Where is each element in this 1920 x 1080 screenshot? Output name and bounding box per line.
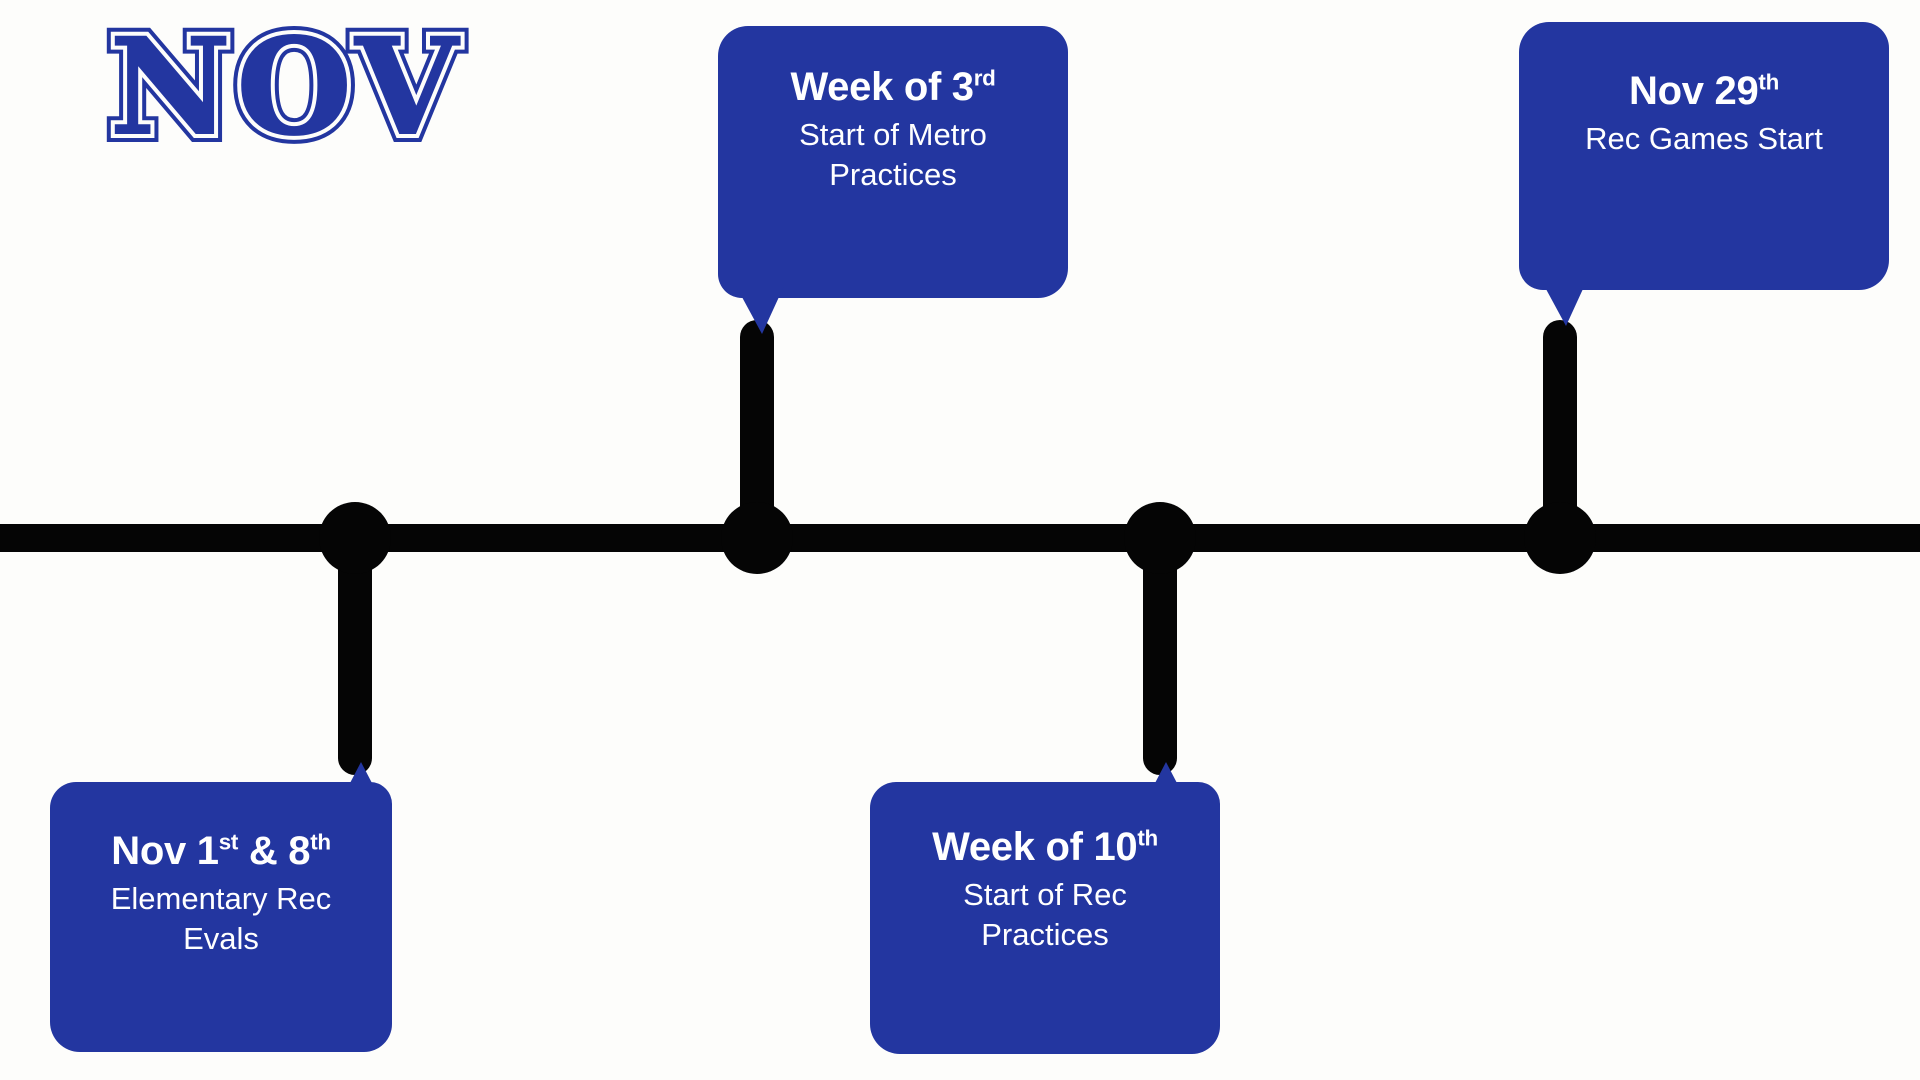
timeline-node-week-3[interactable]	[721, 502, 793, 574]
event-subtitle-nov-1-8: Elementary Rec Evals	[68, 879, 374, 960]
event-bubble-nov-1-8[interactable]: Nov 1st & 8th Elementary Rec Evals	[50, 782, 392, 1052]
event-title-nov-1-8: Nov 1st & 8th	[68, 830, 374, 873]
month-badge-fill: NOV	[110, 22, 464, 154]
event-bubble-nov-29[interactable]: Nov 29th Rec Games Start	[1519, 22, 1889, 290]
event-title-week-10: Week of 10th	[888, 826, 1202, 869]
event-subtitle-week-10: Start of Rec Practices	[888, 875, 1202, 956]
event-bubble-week-10[interactable]: Week of 10th Start of Rec Practices	[870, 782, 1220, 1054]
bubble-tail-week-3	[736, 286, 784, 334]
timeline-node-nov-29[interactable]	[1524, 502, 1596, 574]
timeline-infographic: NOV NOV NOV Week of 3rd Start of Metro P…	[0, 0, 1920, 1080]
timeline-node-nov-1-8[interactable]	[319, 502, 391, 574]
bubble-tail-nov-29	[1540, 278, 1588, 326]
event-title-week-3: Week of 3rd	[744, 66, 1042, 109]
event-subtitle-nov-29: Rec Games Start	[1545, 119, 1863, 159]
event-title-nov-29: Nov 29th	[1545, 70, 1863, 113]
timeline-node-week-10[interactable]	[1124, 502, 1196, 574]
timeline-axis	[0, 524, 1920, 552]
event-subtitle-week-3: Start of Metro Practices	[744, 115, 1042, 196]
event-bubble-week-3[interactable]: Week of 3rd Start of Metro Practices	[718, 26, 1068, 298]
